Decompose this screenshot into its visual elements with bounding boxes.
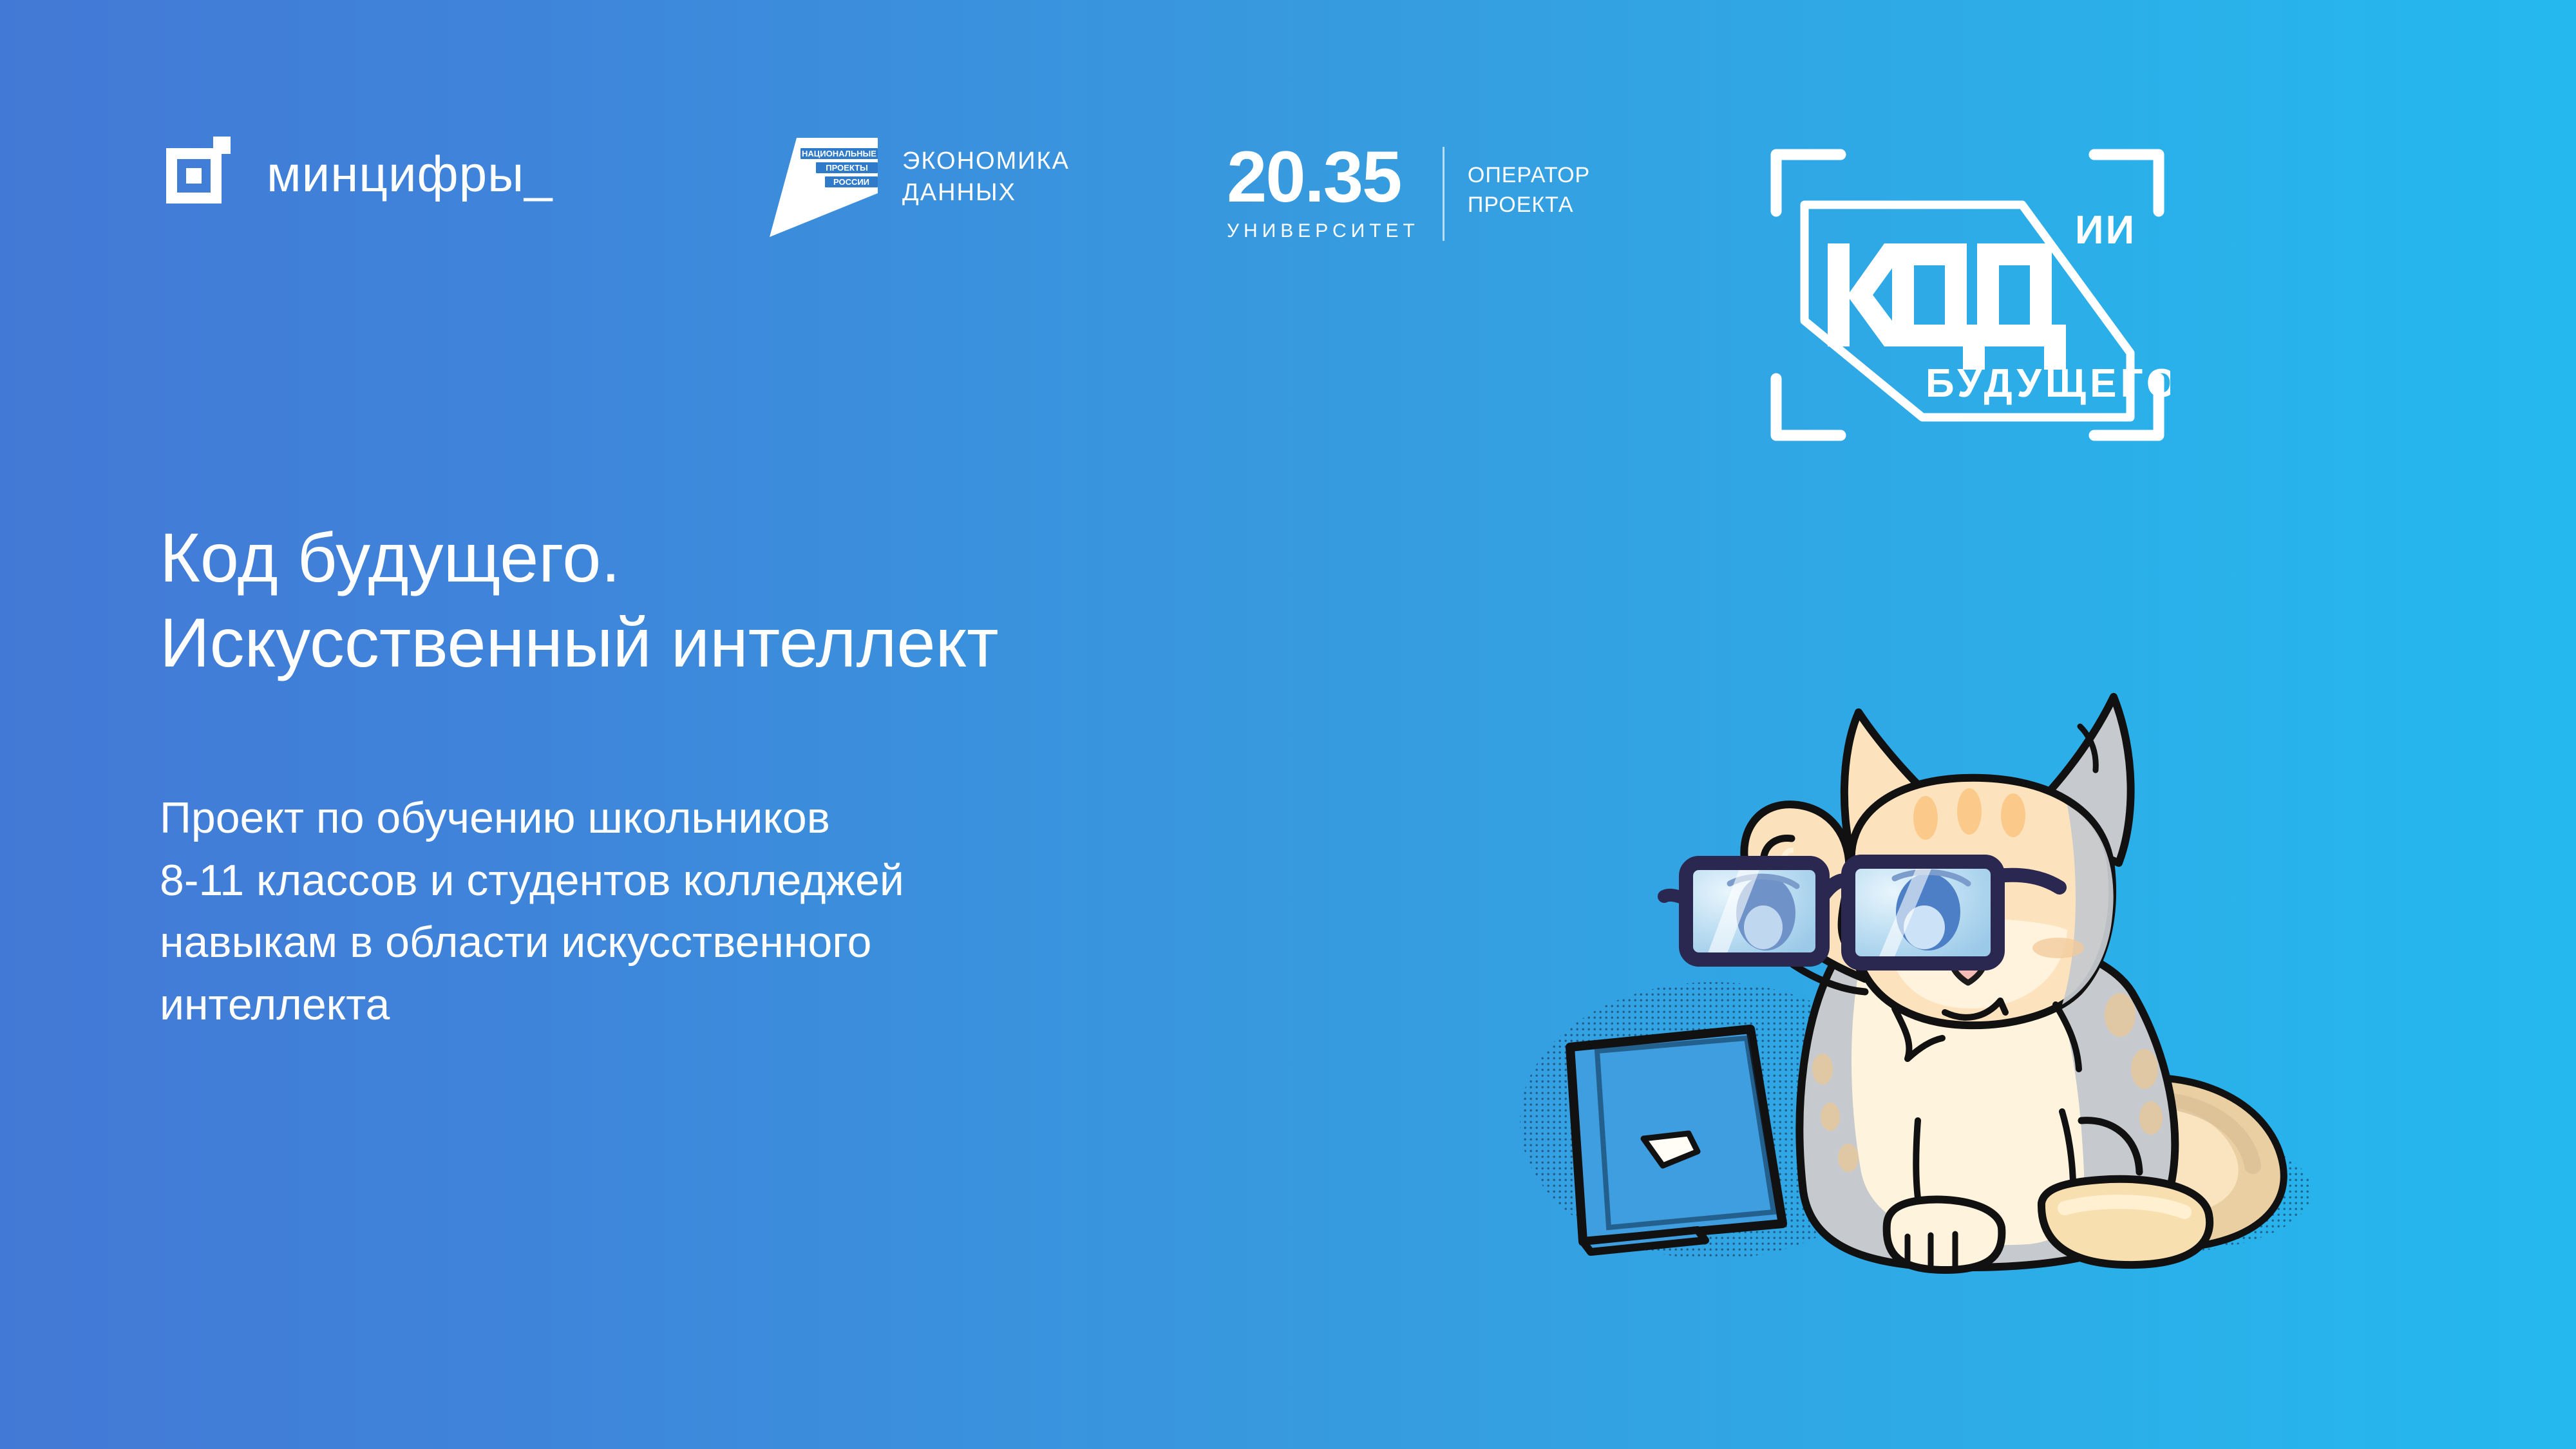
logo-national-projects[interactable]: НАЦИОНАЛЬНЫЕ ПРОЕКТЫ РОССИИ ЭКОНОМИКА ДА…	[766, 129, 1070, 241]
flag-line-2: ПРОЕКТЫ	[816, 162, 878, 173]
mincifry-wordmark: минцифры_	[267, 149, 553, 199]
project-operator-caption: ОПЕРАТОР ПРОЕКТА	[1468, 143, 1590, 242]
kod-word-budushego: БУДУЩЕГО	[1926, 361, 2170, 406]
vr-glasses-icon	[1664, 862, 2060, 963]
mincifry-corner-dot	[213, 137, 231, 154]
mincifry-inner-square	[186, 168, 202, 184]
bracket-top-right	[2094, 155, 2159, 211]
page-description: Проект по обучению школьников 8-11 класс…	[160, 787, 1416, 1036]
vertical-divider	[1443, 147, 1444, 241]
page-title: Код будущего. Искусственный интеллект	[160, 515, 1512, 685]
body-line-1: Проект по обучению школьников	[160, 787, 1416, 849]
national-projects-flag-icon: НАЦИОНАЛЬНЫЕ ПРОЕКТЫ РОССИИ	[766, 129, 885, 241]
kod-letters	[1828, 243, 2066, 370]
economy-line-1: ЭКОНОМИКА	[902, 146, 1070, 177]
heading-line-2: Искусственный интеллект	[160, 600, 1512, 685]
university-2035-subtitle: УНИВЕРСИТЕТ	[1227, 220, 1419, 242]
promo-slide: минцифры_ НАЦИОНАЛЬНЫЕ ПРОЕКТЫ РОССИИ ЭК…	[0, 0, 2576, 1449]
university-2035-mark: 20.35 УНИВЕРСИТЕТ	[1227, 143, 1419, 242]
mincifry-square-mark-icon	[166, 137, 241, 211]
logo-kod-budushego[interactable]: ИИ БУДУЩЕГО	[1765, 140, 2170, 450]
university-2035-number: 20.35	[1227, 143, 1419, 211]
economy-line-2: ДАННЫХ	[902, 177, 1070, 209]
kod-badge-ii: ИИ	[2075, 208, 2136, 252]
flag-line-1: НАЦИОНАЛЬНЫЕ	[800, 148, 878, 159]
cat-illustration	[1501, 657, 2363, 1301]
laptop-icon	[1570, 1029, 1783, 1252]
bracket-bottom-left	[1776, 379, 1841, 435]
body-line-4: интеллекта	[160, 974, 1416, 1036]
body-line-3: навыкам в области искусственного	[160, 911, 1416, 974]
heading-line-1: Код будущего.	[160, 515, 1512, 600]
partner-logo-bar: минцифры_ НАЦИОНАЛЬНЫЕ ПРОЕКТЫ РОССИИ ЭК…	[0, 0, 2576, 296]
flag-line-3: РОССИИ	[825, 176, 878, 187]
logo-mincifry[interactable]: минцифры_	[166, 137, 553, 211]
operator-line-1: ОПЕРАТОР	[1468, 161, 1590, 191]
operator-line-2: ПРОЕКТА	[1468, 191, 1590, 220]
economy-of-data-caption: ЭКОНОМИКА ДАННЫХ	[902, 129, 1070, 208]
body-line-2: 8-11 классов и студентов колледжей	[160, 849, 1416, 912]
logo-university-2035[interactable]: 20.35 УНИВЕРСИТЕТ ОПЕРАТОР ПРОЕКТА	[1227, 143, 1590, 242]
